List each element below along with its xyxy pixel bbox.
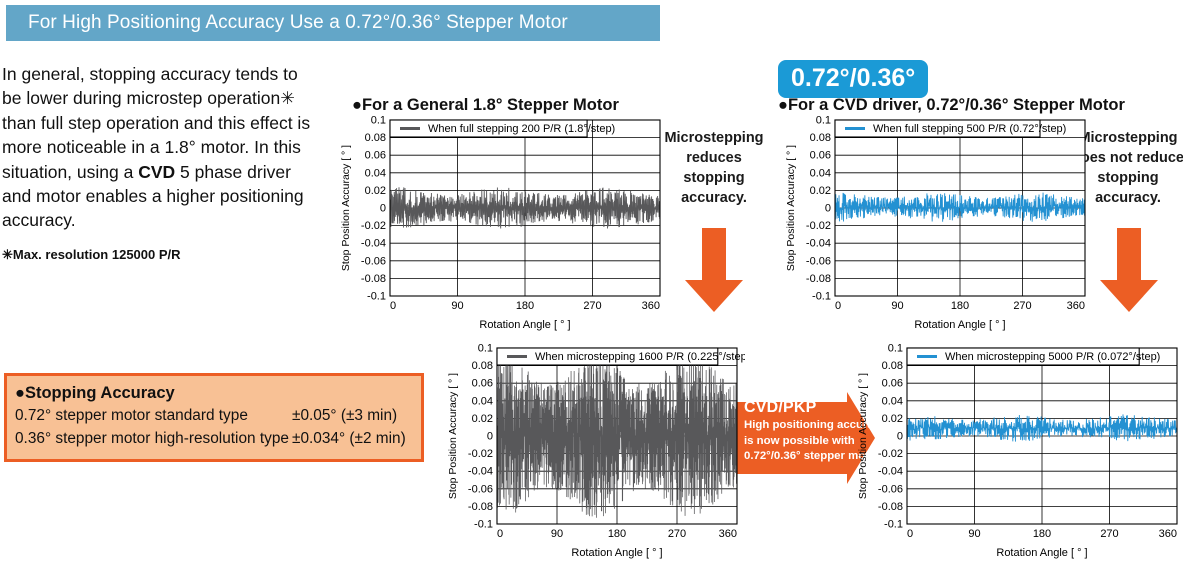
svg-text:0.08: 0.08 [882,360,903,372]
orange-down-arrow-left [685,228,743,312]
intro-cvd-emphasis: CVD [138,162,175,182]
accuracy-row-036: 0.36° stepper motor high-resolution type… [15,427,411,450]
svg-text:0: 0 [835,300,841,312]
svg-text:-0.1: -0.1 [367,291,386,303]
svg-text:0: 0 [497,528,503,540]
svg-text:90: 90 [891,300,903,312]
svg-text:0: 0 [825,203,831,215]
cvd-pkp-title: CVD/PKP [744,398,862,418]
svg-text:-0.02: -0.02 [806,220,831,232]
svg-text:Stop Position Accuracy [ ° ]: Stop Position Accuracy [ ° ] [447,373,459,499]
svg-text:-0.04: -0.04 [806,238,831,250]
accuracy-row-036-value: ±0.034° (±2 min) [292,427,406,450]
svg-text:When microstepping 5000 P/R (0: When microstepping 5000 P/R (0.072°/step… [945,351,1160,363]
svg-text:0.1: 0.1 [816,115,831,127]
svg-text:-0.1: -0.1 [884,519,903,531]
svg-text:-0.04: -0.04 [361,238,386,250]
svg-text:0.06: 0.06 [882,378,903,390]
svg-text:When microstepping 1600 P/R (0: When microstepping 1600 P/R (0.225°/step… [535,351,745,363]
svg-text:360: 360 [719,528,737,540]
svg-text:360: 360 [642,300,660,312]
svg-text:0.02: 0.02 [810,185,831,197]
svg-text:Rotation Angle [ ° ]: Rotation Angle [ ° ] [571,547,662,559]
svg-text:When full stepping 200 P/R (1.: When full stepping 200 P/R (1.8°/step) [428,123,615,135]
svg-text:90: 90 [451,300,463,312]
intro-line-5c: 5 phase driver [175,162,291,182]
svg-text:Stop Position Accuracy [ ° ]: Stop Position Accuracy [ ° ] [785,145,797,271]
svg-text:90: 90 [968,528,980,540]
chart-microstepping-1600pr: 0.10.080.060.040.020-0.02-0.04-0.06-0.08… [445,340,745,562]
svg-text:-0.1: -0.1 [474,519,493,531]
accuracy-row-036-label: 0.36° stepper motor high-resolution type [15,427,292,450]
svg-text:180: 180 [516,300,534,312]
intro-line-6: and motor enables a higher positioning [2,186,304,206]
svg-text:0: 0 [897,431,903,443]
accuracy-row-072: 0.72° stepper motor standard type ±0.05°… [15,404,411,427]
svg-text:-0.08: -0.08 [878,501,903,513]
svg-text:Rotation Angle [ ° ]: Rotation Angle [ ° ] [479,319,570,331]
svg-text:-0.06: -0.06 [361,255,386,267]
svg-text:-0.06: -0.06 [806,255,831,267]
svg-text:0: 0 [487,431,493,443]
svg-text:-0.08: -0.08 [361,273,386,285]
svg-text:0: 0 [390,300,396,312]
svg-text:-0.02: -0.02 [361,220,386,232]
svg-text:-0.06: -0.06 [468,483,493,495]
svg-text:180: 180 [608,528,626,540]
chart-full-stepping-500pr: 0.10.080.060.040.020-0.02-0.04-0.06-0.08… [783,112,1093,334]
svg-text:0.08: 0.08 [472,360,493,372]
svg-text:270: 270 [668,528,686,540]
svg-text:180: 180 [1033,528,1051,540]
cvd-pkp-line-2: is now possible with [744,434,862,450]
svg-text:0.06: 0.06 [365,150,386,162]
svg-text:Stop Position Accuracy [ ° ]: Stop Position Accuracy [ ° ] [857,373,869,499]
svg-text:0.04: 0.04 [882,395,903,407]
svg-text:-0.1: -0.1 [812,291,831,303]
accuracy-row-072-value: ±0.05° (±3 min) [292,404,397,427]
svg-text:-0.04: -0.04 [468,466,493,478]
svg-text:0.06: 0.06 [472,378,493,390]
svg-text:360: 360 [1159,528,1177,540]
svg-text:-0.06: -0.06 [878,483,903,495]
intro-line-1: In general, stopping accuracy tends to [2,64,298,84]
svg-text:0: 0 [907,528,913,540]
intro-line-2: be lower during microstep operation✳ [2,88,295,108]
svg-text:0.04: 0.04 [365,167,386,179]
svg-text:When full stepping 500 P/R (0.: When full stepping 500 P/R (0.72°/step) [873,123,1066,135]
svg-text:0: 0 [380,203,386,215]
svg-text:90: 90 [551,528,563,540]
svg-text:0.04: 0.04 [810,167,831,179]
svg-text:Stop Position Accuracy [ ° ]: Stop Position Accuracy [ ° ] [340,145,352,271]
svg-text:Rotation Angle [ ° ]: Rotation Angle [ ° ] [914,319,1005,331]
page-header-band: For High Positioning Accuracy Use a 0.72… [6,5,660,41]
orange-down-arrow-right [1100,228,1158,312]
stopping-accuracy-title: ●Stopping Accuracy [15,382,411,404]
svg-text:0.02: 0.02 [365,185,386,197]
svg-text:270: 270 [583,300,601,312]
stopping-accuracy-box: ●Stopping Accuracy 0.72° stepper motor s… [4,373,424,462]
cvd-pkp-line-1: High positioning accuracy [744,418,862,434]
cvd-pkp-arrow-text: CVD/PKP High positioning accuracy is now… [744,398,862,465]
svg-text:Rotation Angle [ ° ]: Rotation Angle [ ° ] [996,547,1087,559]
svg-text:-0.04: -0.04 [878,466,903,478]
intro-paragraph: In general, stopping accuracy tends to b… [2,62,334,233]
callout-microstepping-reduces: Microstepping reduces stopping accuracy. [655,128,773,208]
chart-microstepping-5000pr: 0.10.080.060.040.020-0.02-0.04-0.06-0.08… [855,340,1183,562]
svg-text:0.06: 0.06 [810,150,831,162]
svg-text:-0.08: -0.08 [468,501,493,513]
intro-line-4: more noticeable in a 1.8° motor. In this [2,137,301,157]
cvd-pkp-line-3: 0.72°/0.36° stepper motors [744,449,862,465]
svg-text:180: 180 [951,300,969,312]
intro-footnote: ✳Max. resolution 125000 P/R [2,247,342,263]
intro-line-3: than full step operation and this effect… [2,113,310,133]
svg-text:0.1: 0.1 [371,115,386,127]
resolution-badge: 0.72°/0.36° [778,60,928,98]
svg-text:360: 360 [1067,300,1085,312]
intro-line-7: accuracy. [2,210,76,230]
svg-text:-0.02: -0.02 [468,448,493,460]
chart-full-stepping-200pr: 0.10.080.060.040.020-0.02-0.04-0.06-0.08… [338,112,668,334]
svg-text:0.02: 0.02 [882,413,903,425]
svg-text:270: 270 [1100,528,1118,540]
svg-text:0.1: 0.1 [888,343,903,355]
svg-text:-0.02: -0.02 [878,448,903,460]
svg-text:0.04: 0.04 [472,395,493,407]
svg-text:-0.08: -0.08 [806,273,831,285]
page-title: For High Positioning Accuracy Use a 0.72… [6,12,568,34]
svg-text:0.02: 0.02 [472,413,493,425]
svg-text:270: 270 [1013,300,1031,312]
svg-text:0.1: 0.1 [478,343,493,355]
svg-text:0.08: 0.08 [810,132,831,144]
accuracy-row-072-label: 0.72° stepper motor standard type [15,404,292,427]
svg-text:0.08: 0.08 [365,132,386,144]
intro-line-5a: situation, using a [2,162,138,182]
